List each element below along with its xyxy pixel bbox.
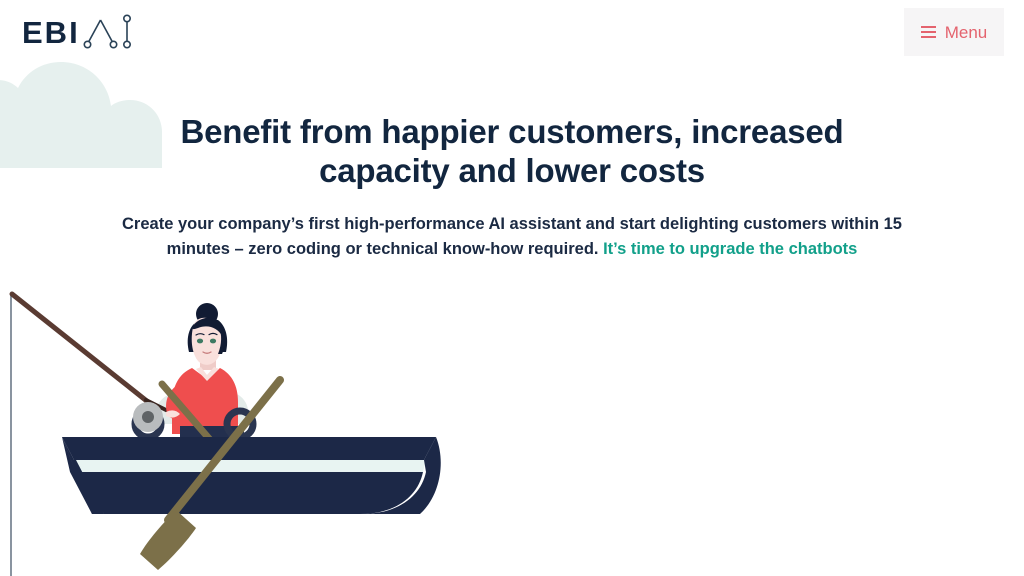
page-root: EBI Menu Benefit from happier customers,… [0, 0, 1024, 576]
brand-wordmark: EBI [22, 17, 80, 48]
menu-button-label: Menu [945, 24, 988, 41]
menu-button[interactable]: Menu [904, 8, 1004, 56]
rowboat-illustration-icon [0, 282, 470, 576]
hero-subtitle-accent: It’s time to upgrade the chatbots [603, 240, 857, 258]
hero-illustration [0, 282, 470, 576]
hero-subtitle: Create your company’s first high-perform… [112, 212, 912, 262]
ai-node-graph-icon [82, 13, 134, 51]
hamburger-icon [921, 26, 936, 38]
page-title: Benefit from happier customers, increase… [112, 112, 912, 190]
site-header: EBI Menu [0, 0, 1024, 64]
brand-logo[interactable]: EBI [22, 12, 134, 52]
